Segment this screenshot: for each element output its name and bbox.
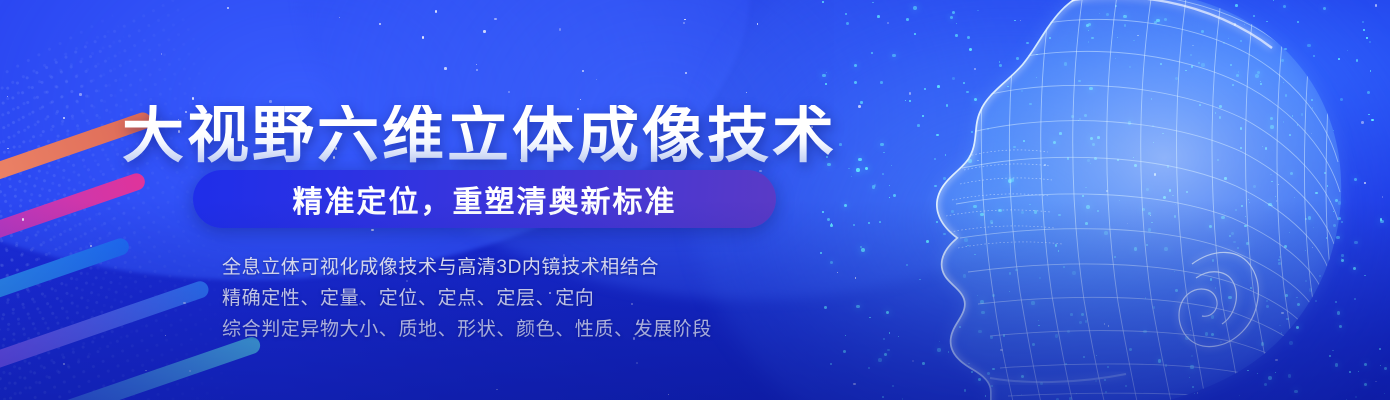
bottom-vignette bbox=[0, 200, 1390, 400]
page-title: 大视野六维立体成像技术 bbox=[122, 105, 837, 167]
hero-banner: 大视野六维立体成像技术 精准定位，重塑清奥新标准 全息立体可视化成像技术与高清3… bbox=[0, 0, 1390, 400]
